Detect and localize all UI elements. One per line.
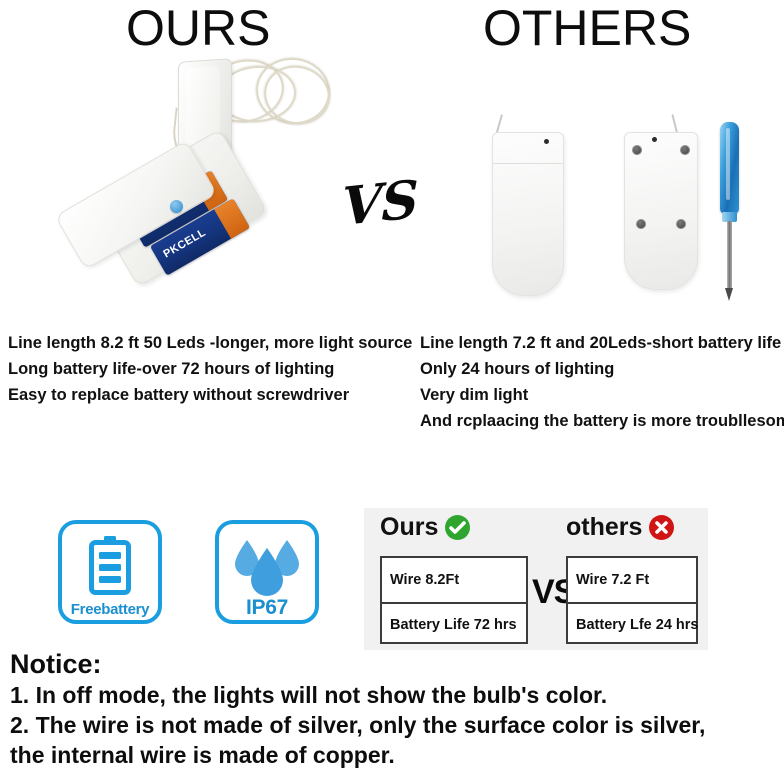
product-photo-row: PKCELL PKCELL VS xyxy=(0,50,784,322)
comparison-panel: Ours others Wire 8.2Ft Battery Life 72 h… xyxy=(364,508,708,650)
power-button-icon xyxy=(170,200,183,213)
bullet-item: And rcplaacing the battery is more troub… xyxy=(420,408,780,434)
badge-freebattery: Freebattery xyxy=(58,520,162,624)
table-row: Battery Life 72 hrs xyxy=(382,602,526,646)
bullet-item: Very dim light xyxy=(420,382,780,408)
notice-line: the internal wire is made of copper. xyxy=(10,740,780,770)
water-drops-icon xyxy=(219,530,315,600)
product-photo-ours: PKCELL PKCELL xyxy=(22,52,342,320)
comparison-table-ours: Wire 8.2Ft Battery Life 72 hrs xyxy=(380,556,528,644)
badge-label: Freebattery xyxy=(62,601,158,618)
bullets-others: Line length 7.2 ft and 20Leds-short batt… xyxy=(420,330,780,434)
header-others: OTHERS xyxy=(483,0,691,56)
header-ours: OURS xyxy=(126,0,270,56)
badge-label: IP67 xyxy=(219,596,315,620)
bullet-item: Long battery life-over 72 hours of light… xyxy=(8,356,408,382)
bullet-item: Line length 8.2 ft 50 Leds -longer, more… xyxy=(8,330,408,356)
bullet-item: Only 24 hours of lighting xyxy=(420,356,780,382)
bullets-ours: Line length 8.2 ft 50 Leds -longer, more… xyxy=(8,330,408,408)
comparison-header-others: others xyxy=(566,512,674,542)
product-photo-others xyxy=(462,108,782,320)
bullet-item: Easy to replace battery without screwdri… xyxy=(8,382,408,408)
screwdriver-icon xyxy=(714,122,744,304)
check-icon xyxy=(445,515,470,540)
notice-line: 1. In off mode, the lights will not show… xyxy=(10,680,780,710)
feature-badge-row: Freebattery IP67 xyxy=(0,508,360,644)
bullet-item: Line length 7.2 ft and 20Leds-short batt… xyxy=(420,330,780,356)
notice-title: Notice: xyxy=(10,648,780,680)
table-row: Wire 8.2Ft xyxy=(382,558,526,602)
table-row: Battery Lfe 24 hrs xyxy=(568,602,696,646)
feature-bullet-row: Line length 8.2 ft 50 Leds -longer, more… xyxy=(0,330,784,440)
comparison-header-ours: Ours xyxy=(380,512,470,542)
comparison-title-others: others xyxy=(566,512,642,542)
competitor-battery-pack-screws xyxy=(624,132,698,290)
vs-handwritten-mark: VS xyxy=(342,172,417,236)
comparison-title-ours: Ours xyxy=(380,512,438,542)
competitor-battery-pack xyxy=(492,132,564,296)
battery-icon xyxy=(62,530,158,600)
cross-icon xyxy=(649,515,674,540)
comparison-table-others: Wire 7.2 Ft Battery Lfe 24 hrs xyxy=(566,556,698,644)
notice-section: Notice: 1. In off mode, the lights will … xyxy=(10,648,780,770)
badge-ip67: IP67 xyxy=(215,520,319,624)
table-row: Wire 7.2 Ft xyxy=(568,558,696,602)
notice-line: 2. The wire is not made of silver, only … xyxy=(10,710,780,740)
